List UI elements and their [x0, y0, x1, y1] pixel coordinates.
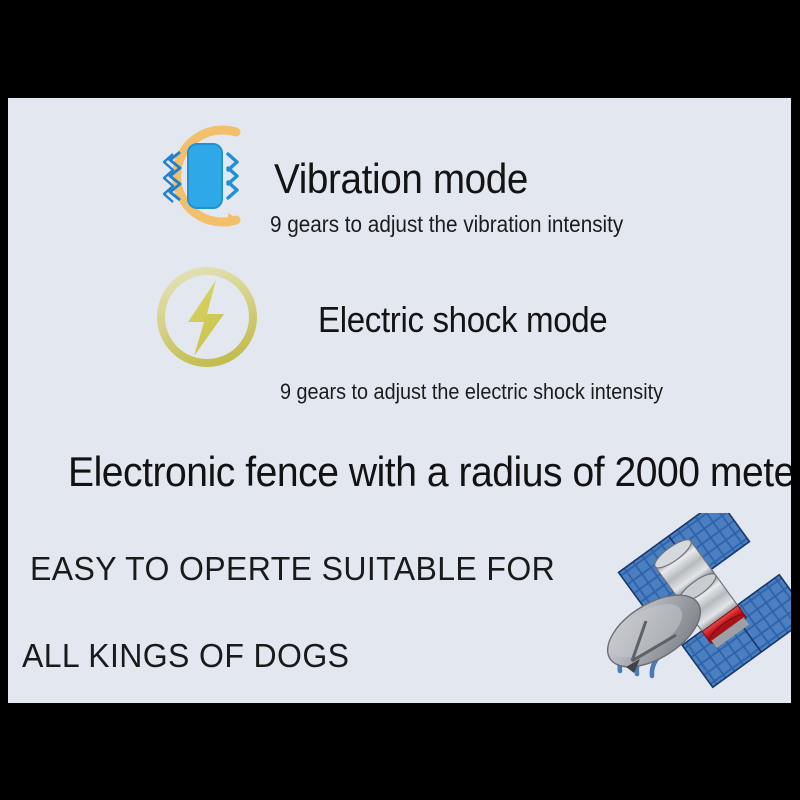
content-panel: Vibration mode 9 gears to adjust the vib… [8, 98, 791, 703]
feature-subtitle-vibration: 9 gears to adjust the vibration intensit… [270, 211, 623, 238]
headline-electronic-fence: Electronic fence with a radius of 2000 m… [68, 448, 791, 496]
feature-title-electric-shock: Electric shock mode [318, 299, 607, 341]
feature-row-electric-shock: Electric shock mode [148, 258, 633, 381]
banner-root: Vibration mode 9 gears to adjust the vib… [0, 0, 800, 800]
lightning-bolt-icon [148, 258, 266, 381]
vibration-phone-icon [140, 106, 270, 251]
tagline-line-1: EASY TO OPERTE SUITABLE FOR [30, 550, 555, 588]
tagline-line-2: ALL KINGS OF DOGS [22, 637, 349, 675]
feature-subtitle-electric-shock: 9 gears to adjust the electric shock int… [280, 379, 663, 405]
feature-title-vibration: Vibration mode [274, 155, 528, 203]
satellite-icon [568, 513, 791, 703]
